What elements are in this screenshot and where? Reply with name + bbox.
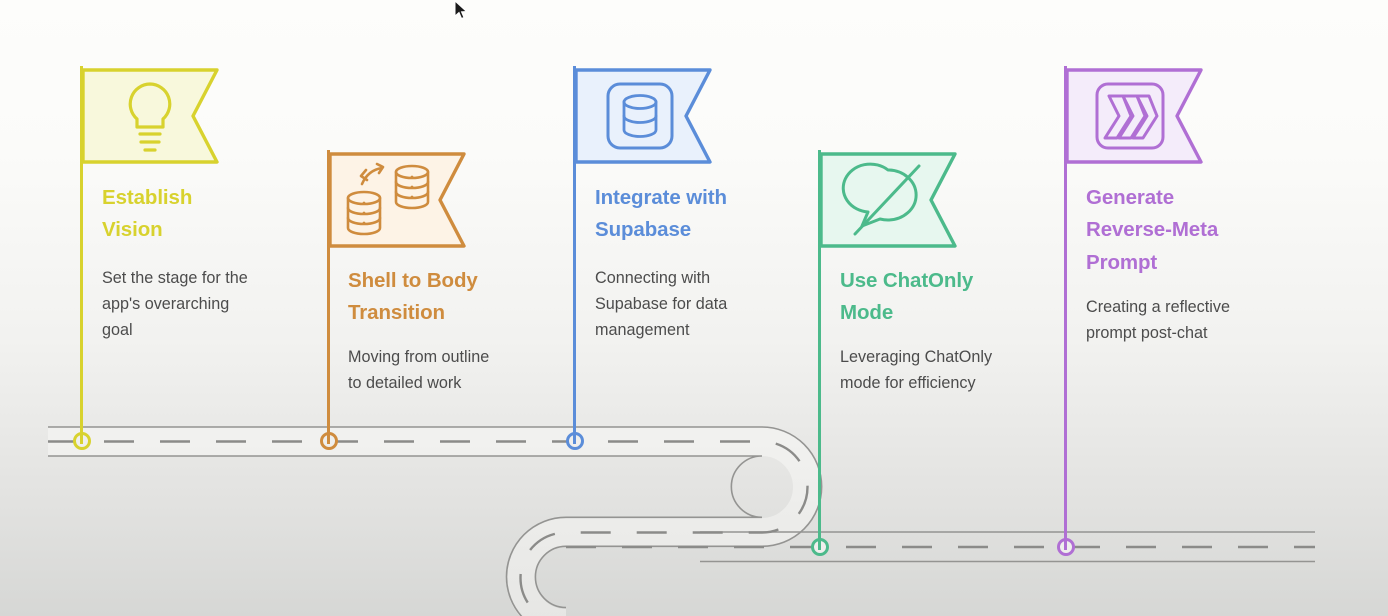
milestone-integrate-with-supabase[interactable] bbox=[568, 66, 718, 166]
pole-integrate-with-supabase bbox=[573, 66, 576, 444]
title-integrate-with-supabase: Integrate with Supabase bbox=[595, 182, 805, 247]
flag-integrate-with-supabase[interactable] bbox=[568, 66, 718, 166]
description-generate-reverse-meta-prompt: Creating a reflective prompt post-chat bbox=[1086, 294, 1301, 346]
flag-establish-vision[interactable] bbox=[75, 66, 225, 166]
pole-establish-vision bbox=[80, 66, 83, 444]
roadmap-diagram: Establish Vision Set the stage for the a… bbox=[0, 0, 1388, 616]
description-shell-to-body-transition: Moving from outline to detailed work bbox=[348, 344, 553, 396]
milestone-establish-vision[interactable] bbox=[75, 66, 225, 166]
flag-shell-to-body-transition[interactable] bbox=[322, 150, 472, 250]
milestone-shell-to-body-transition[interactable] bbox=[322, 150, 472, 250]
milestone-use-chatonly-mode[interactable] bbox=[813, 150, 963, 250]
flag-use-chatonly-mode[interactable] bbox=[813, 150, 963, 250]
description-integrate-with-supabase: Connecting with Supabase for data manage… bbox=[595, 265, 800, 344]
title-use-chatonly-mode: Use ChatOnly Mode bbox=[840, 265, 1050, 330]
pole-shell-to-body-transition bbox=[327, 150, 330, 444]
description-establish-vision: Set the stage for the app's overarching … bbox=[102, 265, 302, 344]
pole-generate-reverse-meta-prompt bbox=[1064, 66, 1067, 550]
pole-use-chatonly-mode bbox=[818, 150, 821, 550]
milestone-generate-reverse-meta-prompt[interactable] bbox=[1059, 66, 1209, 166]
title-establish-vision: Establish Vision bbox=[102, 182, 302, 247]
title-shell-to-body-transition: Shell to Body Transition bbox=[348, 265, 553, 330]
flag-generate-reverse-meta-prompt[interactable] bbox=[1059, 66, 1209, 166]
title-generate-reverse-meta-prompt: Generate Reverse-Meta Prompt bbox=[1086, 182, 1301, 279]
description-use-chatonly-mode: Leveraging ChatOnly mode for efficiency bbox=[840, 344, 1050, 396]
